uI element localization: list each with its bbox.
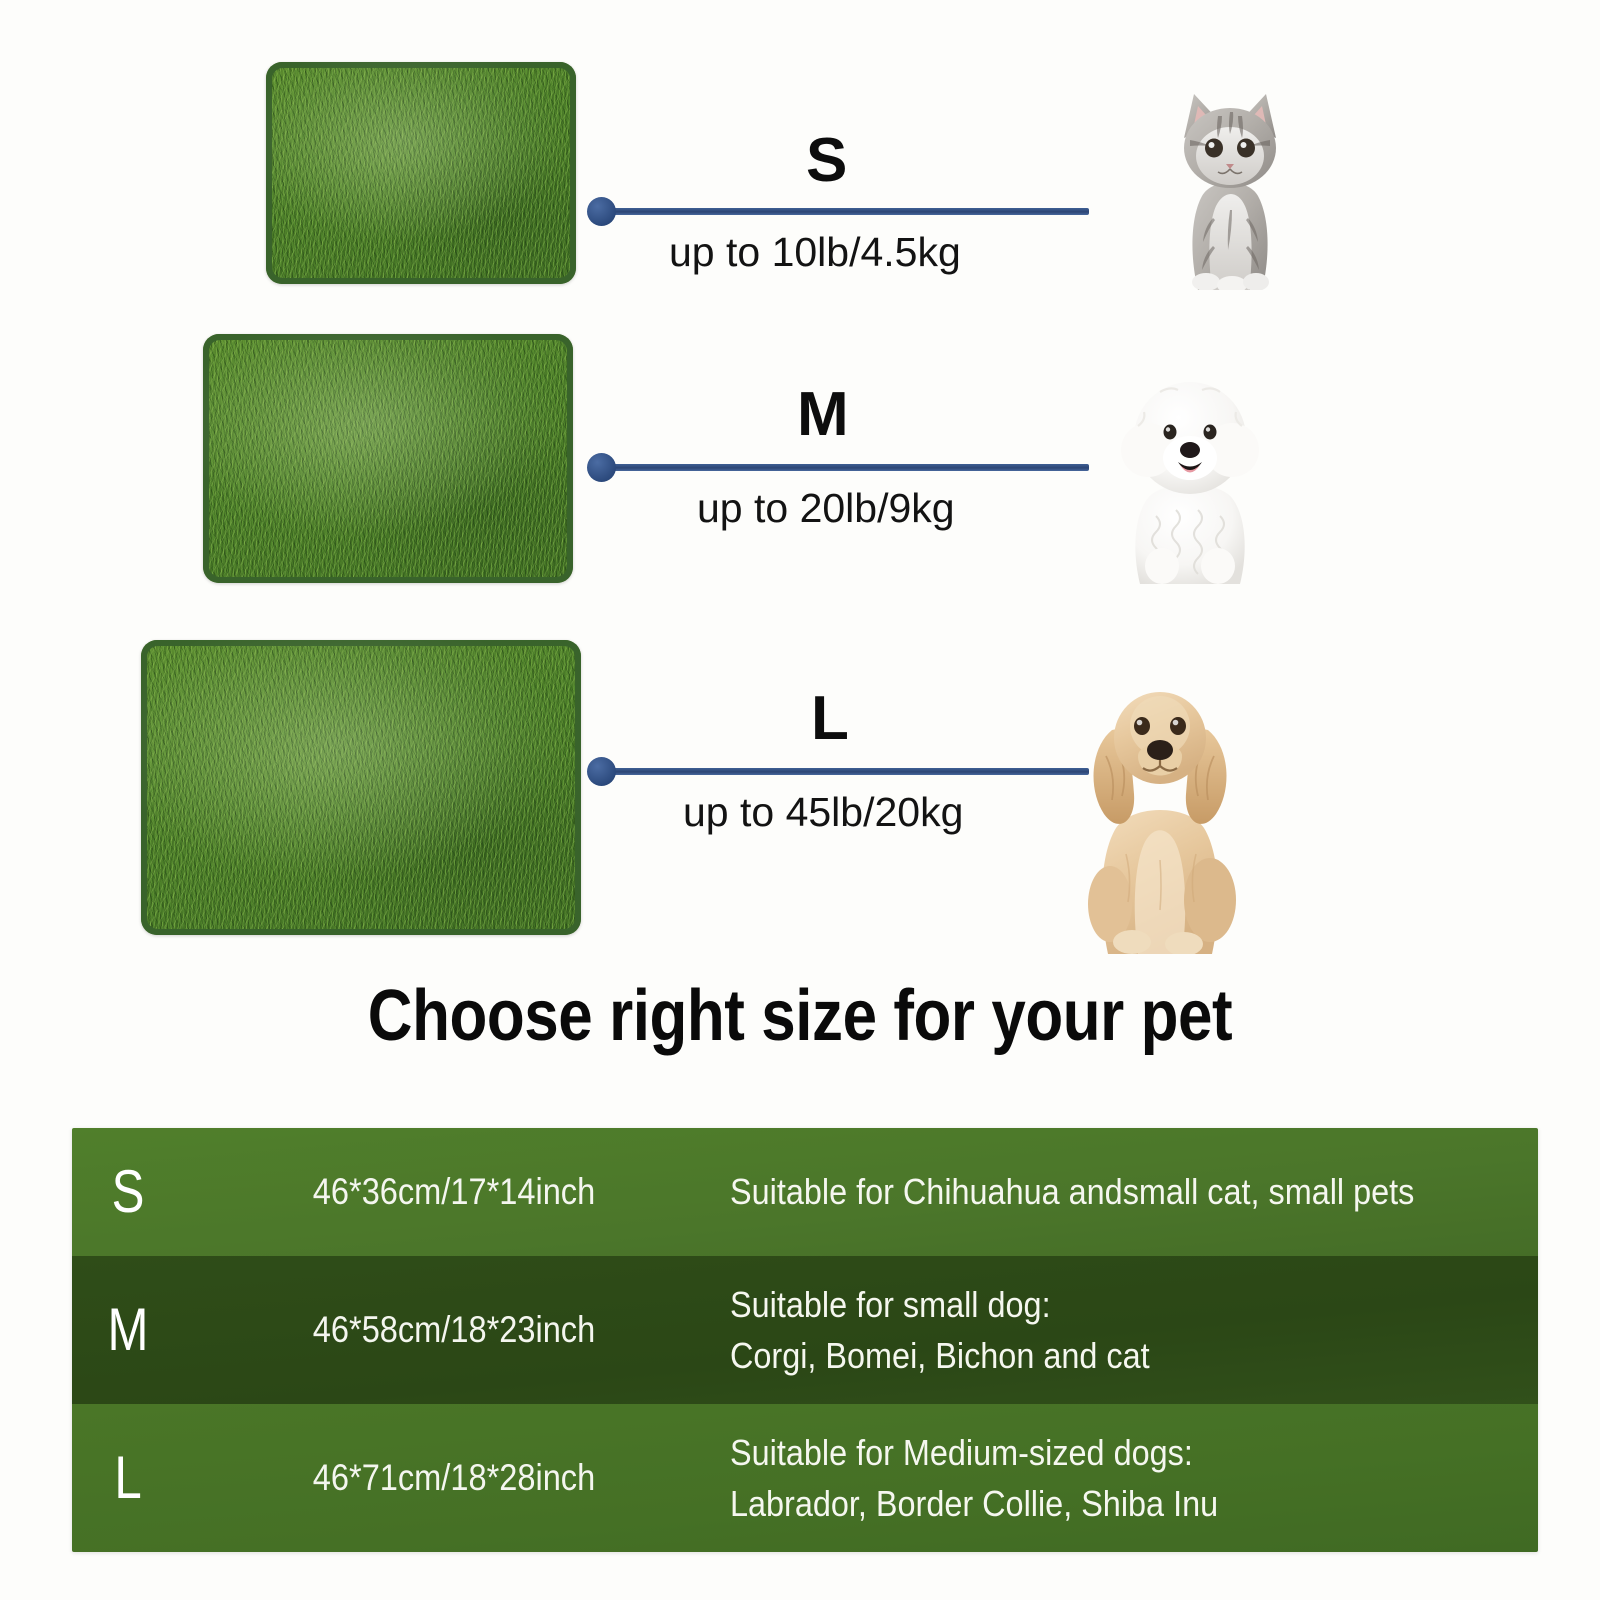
mat-sheen-medium bbox=[203, 334, 573, 583]
table-dimensions-l: 46*71cm/18*28inch bbox=[216, 1457, 691, 1499]
weight-label-s: up to 10lb/4.5kg bbox=[669, 232, 961, 273]
table-size-l: L bbox=[82, 1448, 174, 1508]
table-description-l: Suitable for Medium-sized dogs: Labrador… bbox=[724, 1427, 1538, 1529]
size-label-s: S bbox=[806, 130, 847, 192]
table-description-s: Suitable for Chihuahua andsmall cat, sma… bbox=[724, 1166, 1538, 1217]
table-description-s-line1: Suitable for Chihuahua andsmall cat, sma… bbox=[730, 1166, 1457, 1217]
size-chart-table: S 46*36cm/17*14inch Suitable for Chihuah… bbox=[72, 1128, 1538, 1552]
table-description-m: Suitable for small dog: Corgi, Bomei, Bi… bbox=[724, 1279, 1538, 1381]
medium-grass-mat bbox=[203, 334, 573, 583]
table-description-l-line1: Suitable for Medium-sized dogs: bbox=[730, 1427, 1457, 1478]
bichon-dog-photo bbox=[1100, 366, 1280, 584]
connector-dot-s bbox=[587, 197, 616, 226]
connector-dot-m bbox=[587, 453, 616, 482]
connector-line-s bbox=[601, 208, 1089, 215]
table-row-s: S 46*36cm/17*14inch Suitable for Chihuah… bbox=[72, 1128, 1538, 1256]
cocker-spaniel-dog-photo bbox=[1060, 664, 1260, 954]
weight-label-m: up to 20lb/9kg bbox=[697, 488, 955, 529]
table-description-l-line2: Labrador, Border Collie, Shiba Inu bbox=[730, 1478, 1457, 1529]
connector-line-m bbox=[601, 464, 1089, 471]
size-label-m: M bbox=[797, 384, 849, 446]
cocker-spaniel-dog-icon bbox=[1060, 664, 1260, 954]
connector-dot-l bbox=[587, 757, 616, 786]
mat-sheen-small bbox=[266, 62, 576, 284]
table-dimensions-m: 46*58cm/18*23inch bbox=[216, 1309, 691, 1351]
weight-label-l: up to 45lb/20kg bbox=[683, 792, 963, 833]
table-size-m: M bbox=[82, 1300, 174, 1360]
bichon-dog-icon bbox=[1100, 366, 1280, 584]
table-dimensions-s: 46*36cm/17*14inch bbox=[216, 1171, 691, 1213]
table-size-s: S bbox=[82, 1162, 174, 1222]
size-guide-page: S up to 10lb/4.5kg M up to 20lb/9kg L up… bbox=[0, 0, 1600, 1600]
table-description-m-line2: Corgi, Bomei, Bichon and cat bbox=[730, 1330, 1457, 1381]
table-row-l: L 46*71cm/18*28inch Suitable for Medium-… bbox=[72, 1404, 1538, 1552]
connector-line-l bbox=[601, 768, 1089, 775]
page-title: Choose right size for your pet bbox=[112, 975, 1488, 1057]
kitten-icon bbox=[1150, 78, 1310, 290]
mat-sheen-large bbox=[141, 640, 581, 935]
large-grass-mat bbox=[141, 640, 581, 935]
table-description-m-line1: Suitable for small dog: bbox=[730, 1279, 1457, 1330]
size-label-l: L bbox=[811, 688, 849, 750]
kitten-photo bbox=[1150, 78, 1310, 290]
table-row-m: M 46*58cm/18*23inch Suitable for small d… bbox=[72, 1256, 1538, 1404]
small-grass-mat bbox=[266, 62, 576, 284]
